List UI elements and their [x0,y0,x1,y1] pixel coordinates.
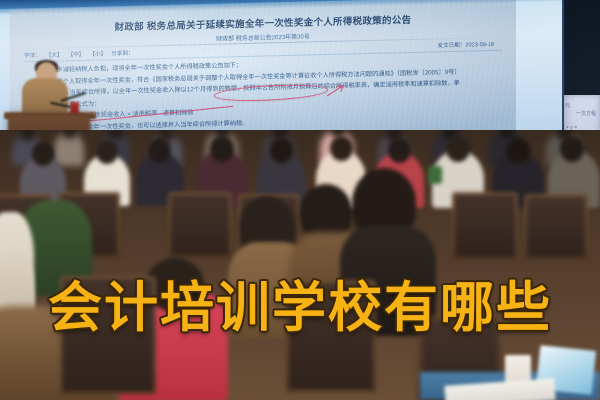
font-size-small[interactable]: 【小】 [89,49,106,57]
font-size-large[interactable]: 【大】 [46,50,63,58]
audience-head [506,138,530,164]
chair-seat [171,195,229,255]
audience-head [446,136,470,162]
chair [524,194,588,260]
chair [452,192,518,260]
audience-head [270,138,293,163]
audience-head [32,142,54,166]
share-label[interactable]: 分享到： [111,49,133,58]
chair [168,192,232,258]
publish-date: 发文日期：2023-08-18 [437,40,494,49]
screenshot-root: 二元 一次方程 x + y = 解法 代入消元 加减消元 财政部 税务总局关于延… [0,0,600,400]
overlay-headline: 会计培训学校有哪些 [0,276,600,338]
audience-head [388,138,411,163]
audience-head [96,140,118,164]
whiteboard-line: 一次方程 [576,111,596,118]
audience-head [210,136,234,162]
chair-seat [455,195,515,257]
font-size-medium[interactable]: 【中】 [68,50,85,58]
font-size-label: 字体： [24,51,41,59]
slide-toolbar: 字体： 【大】 【中】 【小】 分享到： [24,49,134,60]
audience-head [560,136,584,162]
red-cup [70,102,79,114]
audience-head [148,138,171,163]
green-object [428,166,442,184]
chair-seat [527,197,585,257]
audience-head [330,136,353,161]
